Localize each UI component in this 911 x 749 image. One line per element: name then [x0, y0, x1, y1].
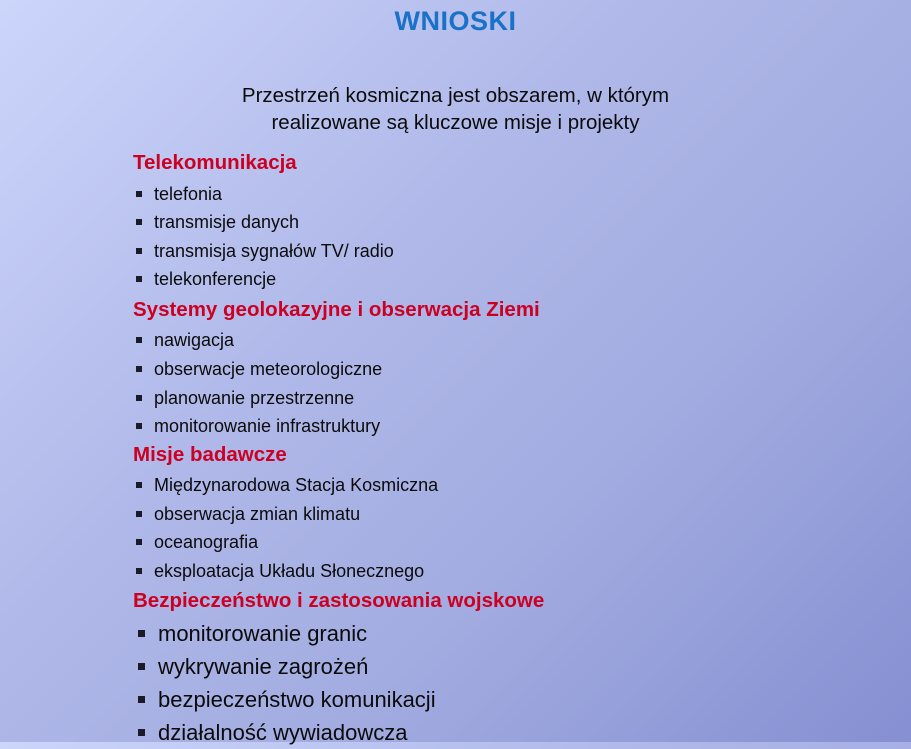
square-bullet-icon — [136, 511, 142, 517]
section-telekomunikacja: Telekomunikacja telefonia transmisje dan… — [133, 153, 893, 294]
list-item: wykrywanie zagrożeń — [133, 650, 893, 683]
list-item: telekonferencje — [133, 265, 893, 294]
list-item-label: nawigacja — [154, 330, 234, 350]
square-bullet-icon — [138, 663, 145, 670]
list-item-label: działalność wywiadowcza — [158, 720, 407, 745]
list-item: telefonia — [133, 180, 893, 209]
list-item: bezpieczeństwo komunikacji — [133, 683, 893, 716]
section-heading: Systemy geolokazyjne i obserwacja Ziemi — [133, 300, 893, 321]
square-bullet-icon — [136, 395, 142, 401]
list-item-label: transmisja sygnałów TV/ radio — [154, 241, 394, 261]
square-bullet-icon — [138, 696, 145, 703]
slide-content: Telekomunikacja telefonia transmisje dan… — [133, 150, 893, 749]
list-item: obserwacja zmian klimatu — [133, 500, 893, 529]
list-item-label: planowanie przestrzenne — [154, 388, 354, 408]
presentation-slide: WNIOSKI Przestrzeń kosmiczna jest obszar… — [0, 0, 911, 742]
subtitle-line-2: realizowane są kluczowe misje i projekty — [0, 109, 911, 136]
section-misje-badawcze: Misje badawcze Międzynarodowa Stacja Kos… — [133, 445, 893, 586]
square-bullet-icon — [136, 191, 142, 197]
list-item: planowanie przestrzenne — [133, 384, 893, 413]
square-bullet-icon — [136, 337, 142, 343]
page-title: WNIOSKI — [0, 7, 911, 37]
list-item-label: eksploatacja Układu Słonecznego — [154, 561, 424, 581]
list-item-label: wykrywanie zagrożeń — [158, 654, 368, 679]
subtitle-line-1: Przestrzeń kosmiczna jest obszarem, w kt… — [0, 82, 911, 109]
list-item-label: telefonia — [154, 184, 222, 204]
list-item-label: telekonferencje — [154, 269, 276, 289]
square-bullet-icon — [138, 729, 145, 736]
square-bullet-icon — [136, 276, 142, 282]
square-bullet-icon — [136, 539, 142, 545]
list-item-label: Międzynarodowa Stacja Kosmiczna — [154, 475, 438, 495]
list-item-label: obserwacje meteorologiczne — [154, 359, 382, 379]
list-item: eksploatacja Układu Słonecznego — [133, 557, 893, 586]
list-item-label: monitorowanie infrastruktury — [154, 416, 380, 436]
section-heading: Misje badawcze — [133, 445, 893, 466]
section-heading: Telekomunikacja — [133, 153, 893, 174]
bullet-list: nawigacja obserwacje meteorologiczne pla… — [133, 326, 893, 440]
square-bullet-icon — [136, 568, 142, 574]
list-item: Międzynarodowa Stacja Kosmiczna — [133, 471, 893, 500]
square-bullet-icon — [136, 219, 142, 225]
list-item: oceanografia — [133, 528, 893, 557]
square-bullet-icon — [136, 248, 142, 254]
square-bullet-icon — [136, 482, 142, 488]
bullet-list: Międzynarodowa Stacja Kosmiczna obserwac… — [133, 471, 893, 585]
square-bullet-icon — [136, 423, 142, 429]
list-item-label: transmisje danych — [154, 212, 299, 232]
list-item: transmisja sygnałów TV/ radio — [133, 237, 893, 266]
section-bezpieczenstwo: Bezpieczeństwo i zastosowania wojskowe m… — [133, 591, 893, 749]
list-item: monitorowanie granic — [133, 617, 893, 650]
square-bullet-icon — [136, 366, 142, 372]
list-item: nawigacja — [133, 326, 893, 355]
section-systemy-geolokazyjne: Systemy geolokazyjne i obserwacja Ziemi … — [133, 300, 893, 441]
bullet-list: monitorowanie granic wykrywanie zagrożeń… — [133, 617, 893, 749]
square-bullet-icon — [138, 630, 145, 637]
list-item-label: oceanografia — [154, 532, 258, 552]
slide-subtitle: Przestrzeń kosmiczna jest obszarem, w kt… — [0, 82, 911, 137]
list-item: obserwacje meteorologiczne — [133, 355, 893, 384]
list-item-label: bezpieczeństwo komunikacji — [158, 687, 436, 712]
bullet-list: telefonia transmisje danych transmisja s… — [133, 180, 893, 294]
section-heading: Bezpieczeństwo i zastosowania wojskowe — [133, 591, 893, 612]
list-item: monitorowanie infrastruktury — [133, 412, 893, 441]
list-item-label: obserwacja zmian klimatu — [154, 504, 360, 524]
list-item-label: monitorowanie granic — [158, 621, 367, 646]
list-item: działalność wywiadowcza — [133, 716, 893, 749]
list-item: transmisje danych — [133, 208, 893, 237]
